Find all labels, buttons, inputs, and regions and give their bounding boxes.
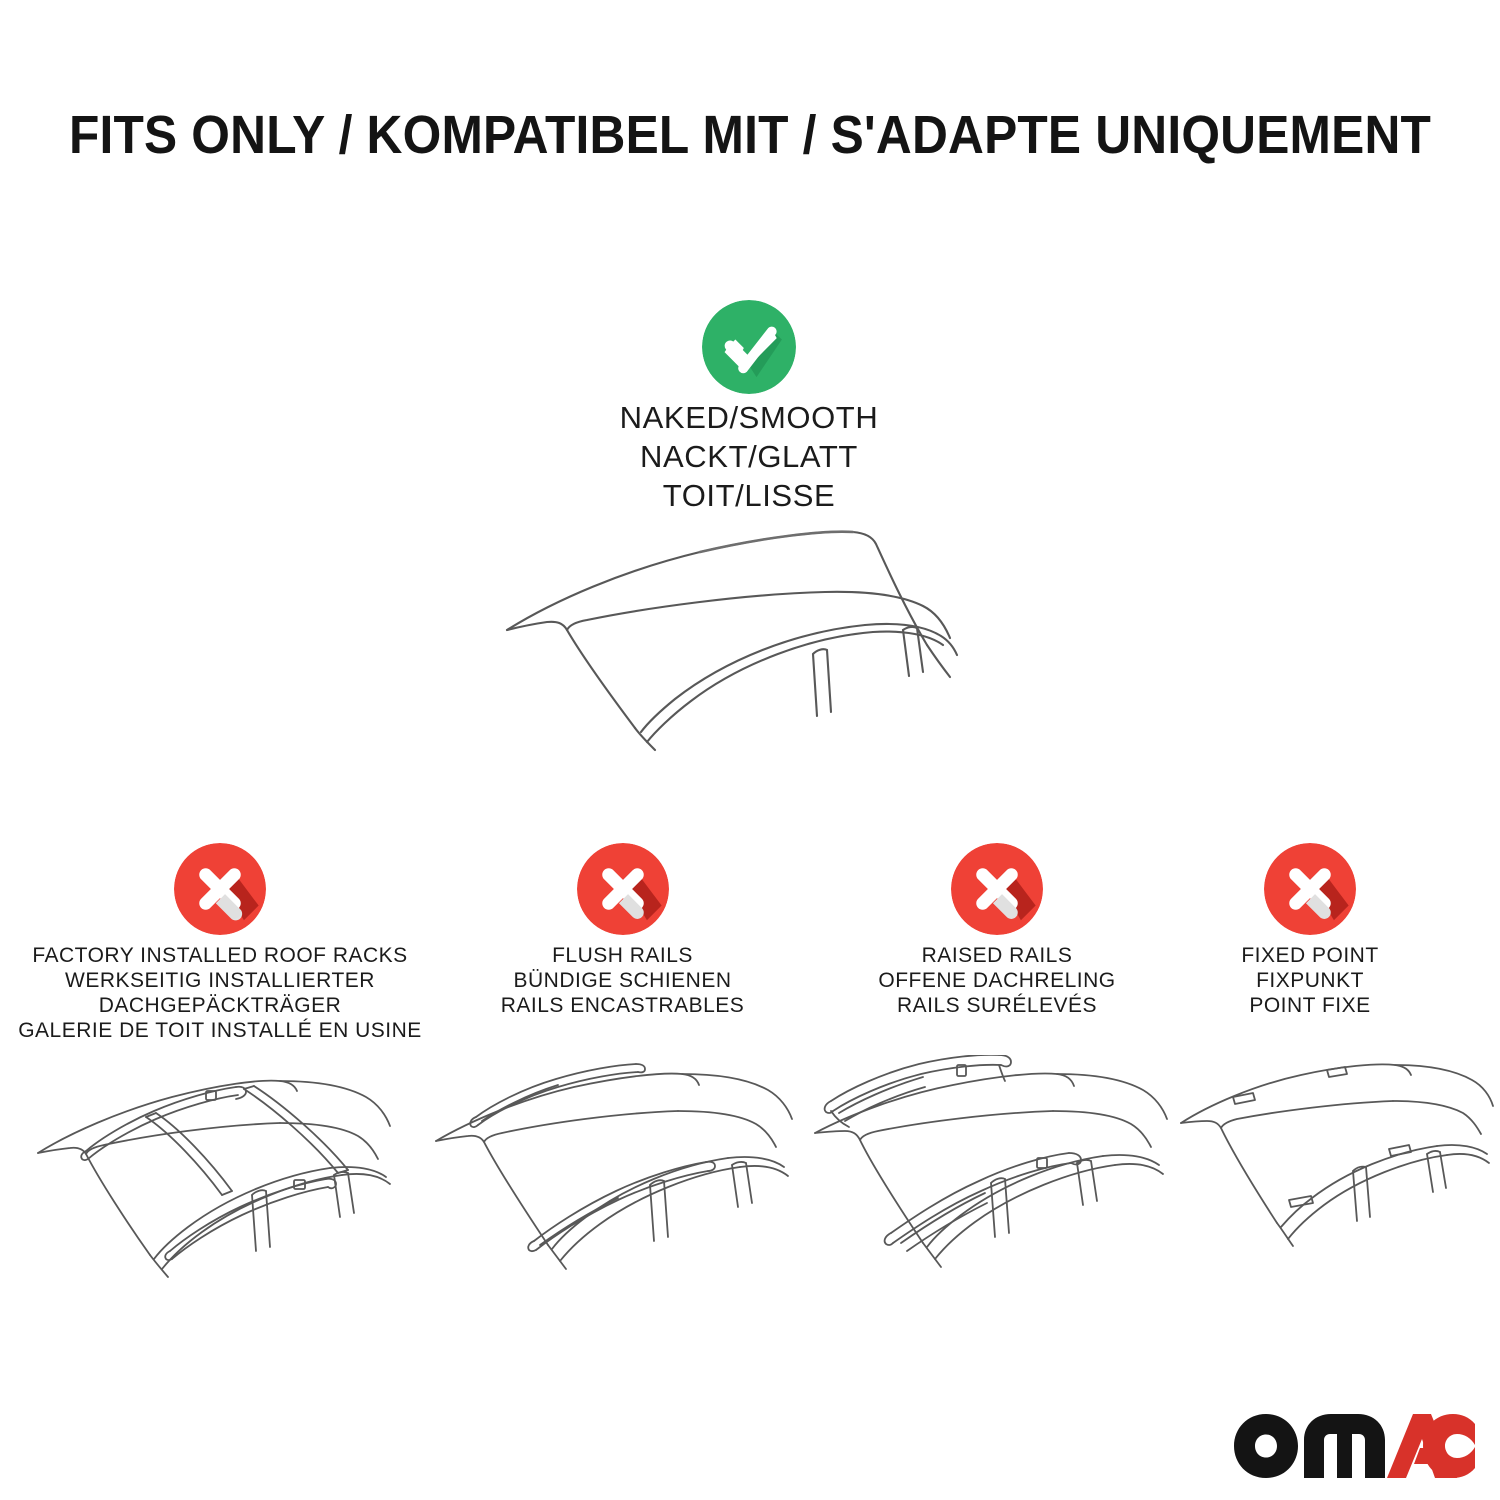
check-circle-icon <box>702 300 796 394</box>
x-circle-icon <box>174 843 266 935</box>
not-compatible-row: FACTORY INSTALLED ROOF RACKS WERKSEITIG … <box>0 843 1500 1073</box>
caption-line-2: FIXPUNKT <box>1185 968 1435 993</box>
caption-line-2: WERKSEITIG INSTALLIERTER <box>10 968 430 993</box>
page-title: FITS ONLY / KOMPATIBEL MIT / S'ADAPTE UN… <box>60 104 1440 166</box>
omac-logo <box>1232 1412 1477 1480</box>
caption-raised-rails: RAISED RAILS OFFENE DACHRELING RAILS SUR… <box>812 943 1182 1018</box>
caption-line-3: RAILS ENCASTRABLES <box>435 993 810 1018</box>
caption-line-4: GALERIE DE TOIT INSTALLÉ EN USINE <box>10 1018 430 1043</box>
caption-line-1: FIXED POINT <box>1185 943 1435 968</box>
fits-caption-line-1: NAKED/SMOOTH <box>499 398 999 437</box>
caption-line-3: RAILS SURÉLEVÉS <box>812 993 1182 1018</box>
caption-line-2: BÜNDIGE SCHIENEN <box>435 968 810 993</box>
caption-line-1: RAISED RAILS <box>812 943 1182 968</box>
caption-line-3: DACHGEPÄCKTRÄGER <box>10 993 430 1018</box>
fits-caption-line-2: NACKT/GLATT <box>499 437 999 476</box>
caption-fixed-point: FIXED POINT FIXPUNKT POINT FIXE <box>1185 943 1435 1018</box>
caption-line-1: FACTORY INSTALLED ROOF RACKS <box>10 943 430 968</box>
x-circle-icon <box>577 843 669 935</box>
car-roof-factory-roof-racks-illustration <box>30 1055 440 1285</box>
car-roof-naked-smooth-illustration <box>495 520 1025 780</box>
caption-flush-rails: FLUSH RAILS BÜNDIGE SCHIENEN RAILS ENCAS… <box>435 943 810 1018</box>
car-roof-raised-rails-illustration <box>805 1055 1200 1285</box>
car-roof-fixed-point-illustration <box>1175 1055 1500 1285</box>
fits-caption: NAKED/SMOOTH NACKT/GLATT TOIT/LISSE <box>499 398 999 515</box>
caption-line-2: OFFENE DACHRELING <box>812 968 1182 993</box>
fits-caption-line-3: TOIT/LISSE <box>499 476 999 515</box>
caption-line-1: FLUSH RAILS <box>435 943 810 968</box>
caption-line-3: POINT FIXE <box>1185 993 1435 1018</box>
x-circle-icon <box>951 843 1043 935</box>
car-roof-flush-rails-illustration <box>430 1055 825 1285</box>
roof-type-illustrations <box>0 1055 1500 1285</box>
caption-factory-roof-racks: FACTORY INSTALLED ROOF RACKS WERKSEITIG … <box>10 943 430 1043</box>
x-circle-icon <box>1264 843 1356 935</box>
